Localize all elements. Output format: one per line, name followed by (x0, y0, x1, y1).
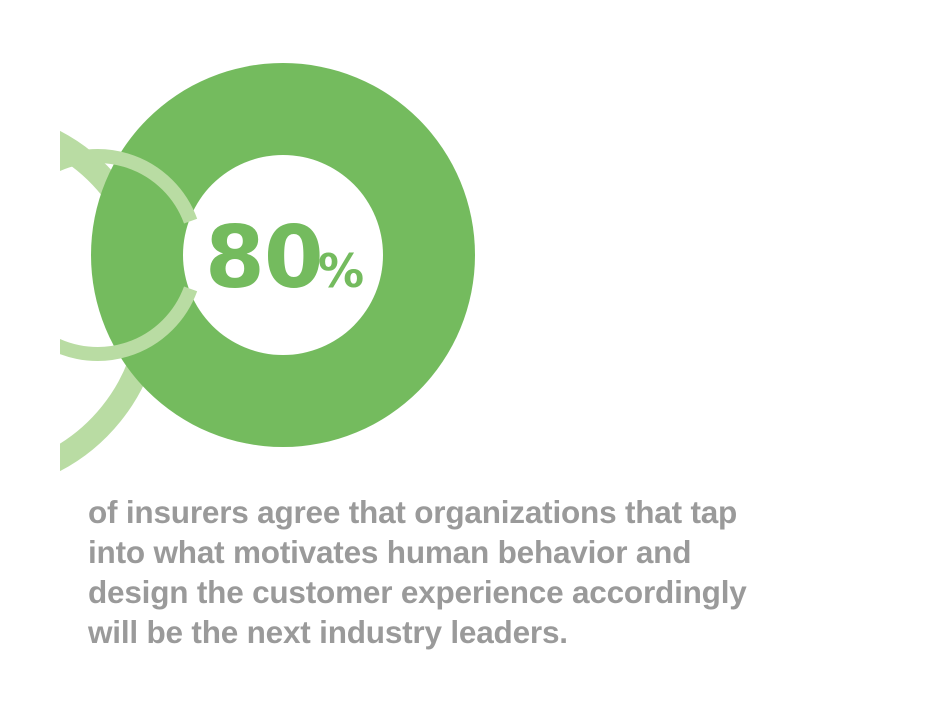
donut-center-label: 80 (205, 208, 323, 308)
caption-line-4: will be the next industry leaders. (88, 612, 898, 652)
donut-chart-svg: 80 % (60, 35, 520, 475)
infographic-root: 80 % of insurers agree that organization… (0, 0, 946, 702)
caption-line-2: into what motivates human behavior and (88, 532, 898, 572)
caption-line-3: design the customer experience according… (88, 572, 898, 612)
donut-chart: 80 % (60, 35, 520, 475)
donut-center-unit: % (318, 244, 364, 298)
caption-line-1: of insurers agree that organizations tha… (88, 492, 898, 532)
caption-block: of insurers agree that organizations tha… (88, 492, 898, 652)
